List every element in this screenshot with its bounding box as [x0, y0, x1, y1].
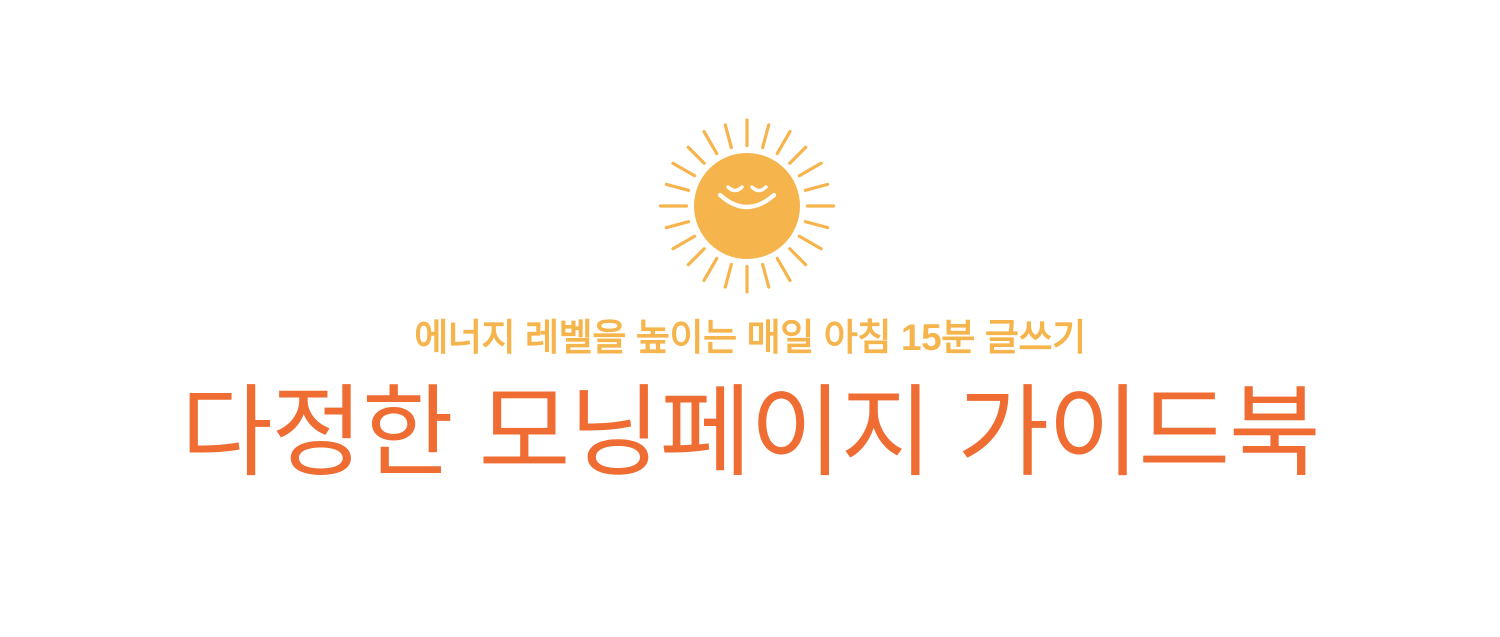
cover-subtitle: 에너지 레벨을 높이는 매일 아침 15분 글쓰기 [414, 315, 1086, 361]
smiling-sun-icon [635, 103, 865, 303]
hero-illustration [635, 103, 865, 303]
cover-title: 다정한 모닝페이지 가이드북 [181, 377, 1320, 489]
cover-page: 에너지 레벨을 높이는 매일 아침 15분 글쓰기 다정한 모닝페이지 가이드북 [0, 0, 1500, 637]
